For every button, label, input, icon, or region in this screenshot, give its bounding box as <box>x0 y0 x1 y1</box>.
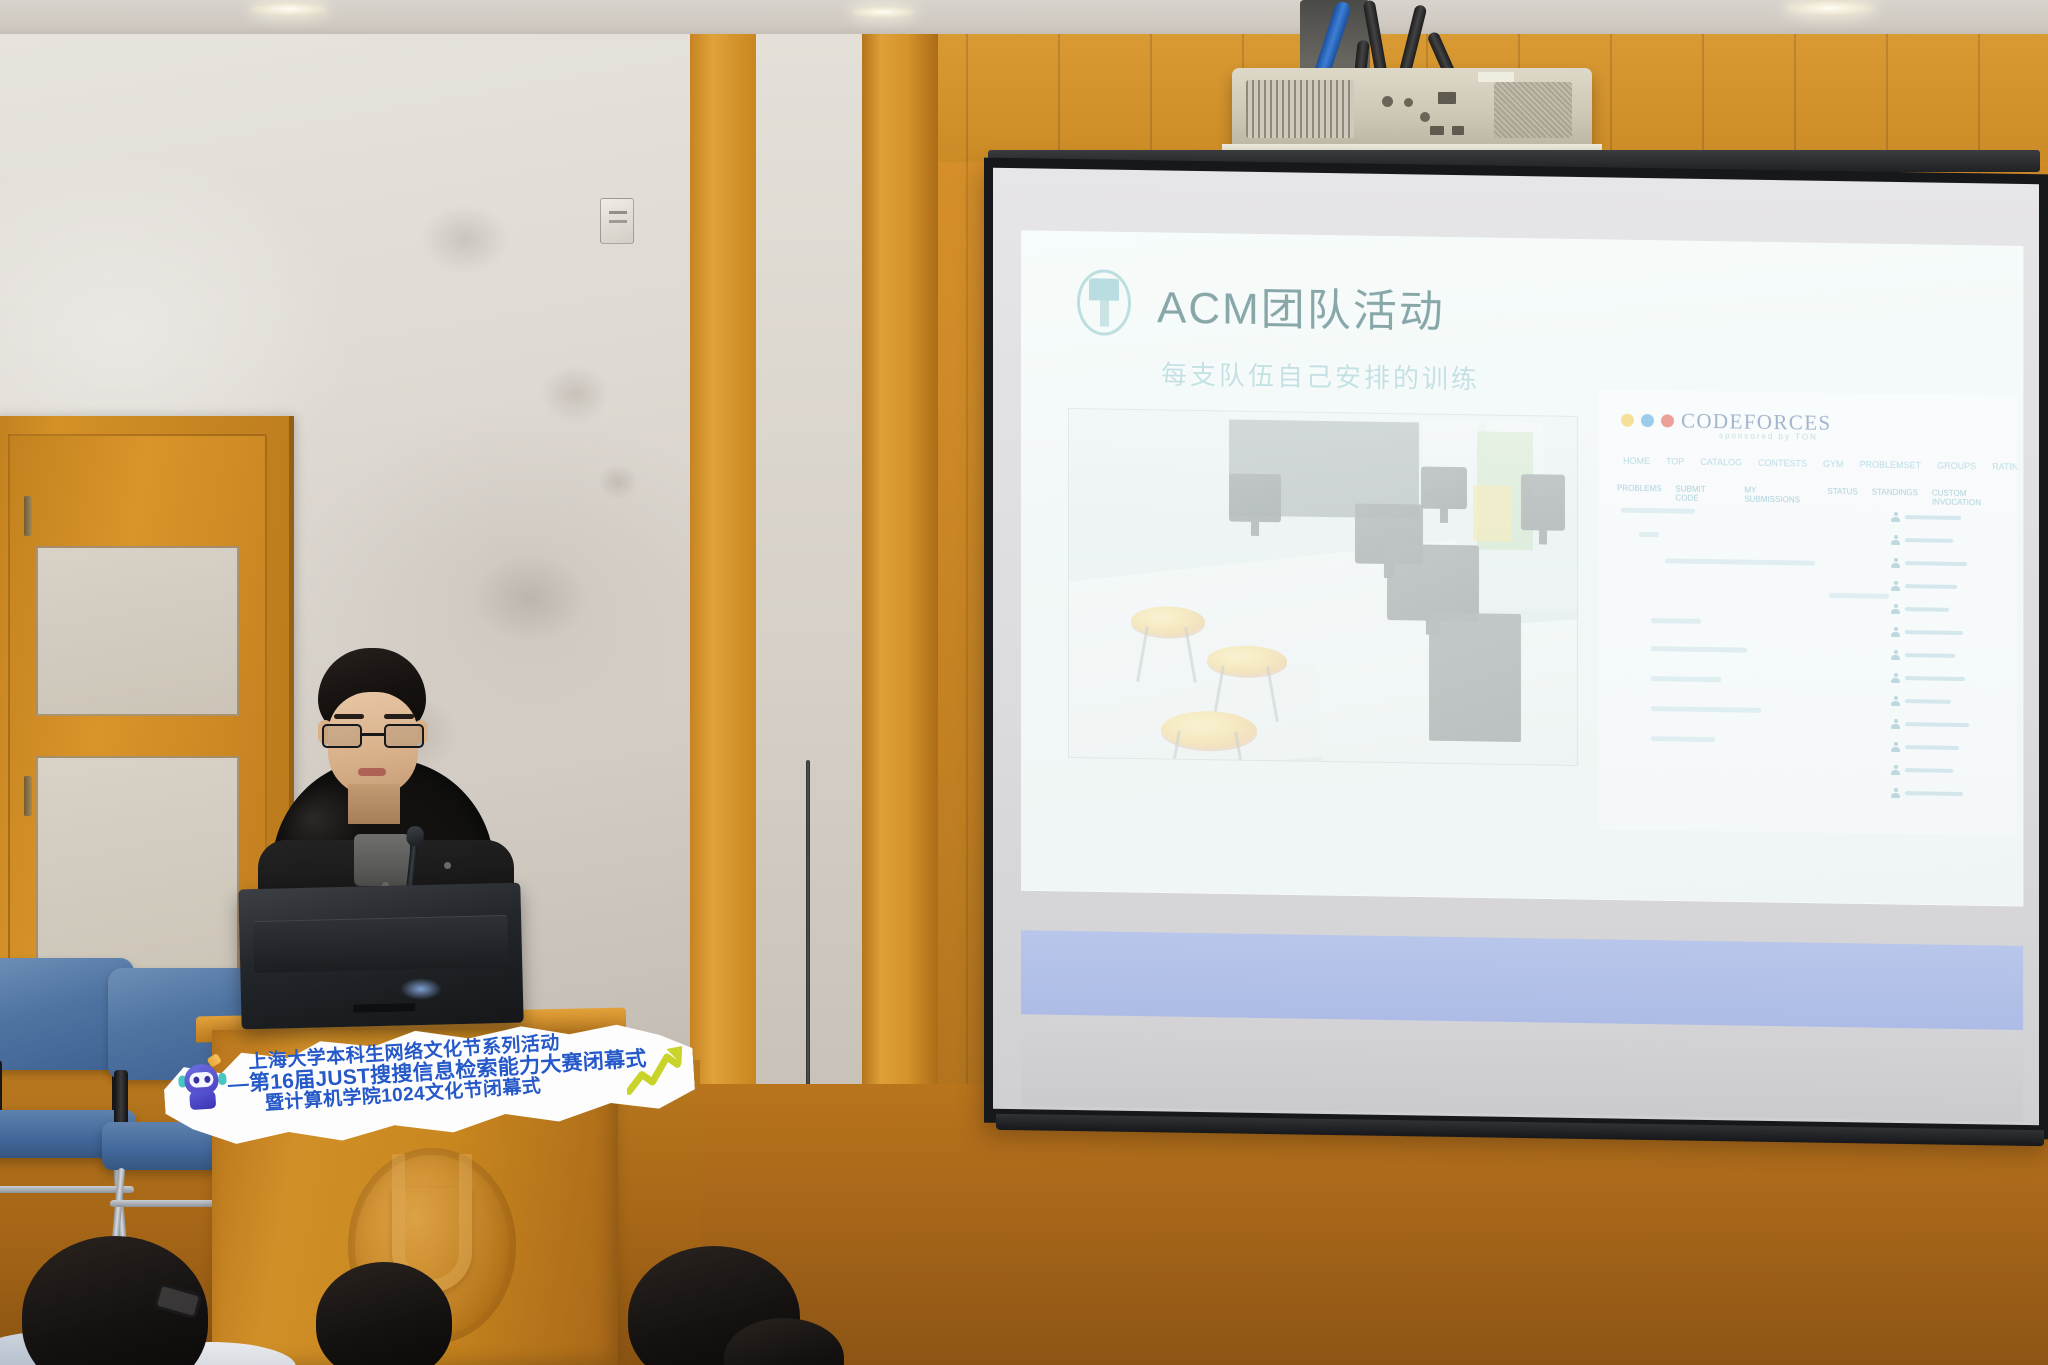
codeforces-dot-red-icon <box>1661 414 1674 427</box>
growth-arrow-icon <box>624 1042 693 1098</box>
cf-user-row[interactable] <box>1891 765 2011 777</box>
codeforces-top-rated-sidebar <box>1891 512 2011 813</box>
person-icon <box>1891 535 1900 545</box>
cf-content-line <box>1639 532 1659 537</box>
wood-pillar-right <box>862 34 938 1174</box>
slide-title: ACM团队活动 <box>1157 271 1445 340</box>
projector-port <box>1382 96 1393 107</box>
person-icon <box>1891 742 1900 752</box>
cf-subnav-item[interactable]: STATUS <box>1827 487 1857 505</box>
person-icon <box>1891 581 1900 591</box>
cf-user-row[interactable] <box>1891 696 2011 708</box>
codeforces-tagline: sponsored by TON <box>1719 431 1818 442</box>
presenter-eyebrow <box>334 714 364 719</box>
door-hinge <box>24 496 32 536</box>
projector-port <box>1404 98 1413 107</box>
monitor-glint <box>400 978 442 1000</box>
cf-nav-item[interactable]: HOME <box>1623 456 1650 466</box>
cf-user-row[interactable] <box>1891 535 2011 547</box>
chair-rail <box>0 1186 134 1193</box>
codeforces-screenshot: CODEFORCES sponsored by TON HOME TOP CAT… <box>1599 389 2017 836</box>
mascot-body <box>189 1089 216 1110</box>
slide-lower-band <box>1021 1014 2023 1122</box>
person-icon <box>1891 512 1900 522</box>
presenter-eyebrow <box>384 714 414 719</box>
projection-screen-icon: ACM团队活动 每支队伍自己安排的训练 <box>984 158 2048 1140</box>
wall-socket-icon <box>600 198 634 244</box>
cf-content-line <box>1829 593 1889 599</box>
presenter-mouth <box>358 768 386 776</box>
ceiling-light <box>252 2 326 16</box>
cf-nav-item[interactable]: GROUPS <box>1937 461 1976 472</box>
ceiling-projector-icon <box>1232 68 1592 154</box>
person-icon <box>1891 765 1900 775</box>
projector-connector <box>1452 126 1464 135</box>
cf-user-row[interactable] <box>1891 558 2011 570</box>
cf-nav-item[interactable]: CONTESTS <box>1758 458 1807 469</box>
cf-content-line <box>1621 508 1695 514</box>
cf-subnav-item[interactable]: SUBMIT CODE <box>1675 485 1730 504</box>
plaster-strip <box>756 34 864 1174</box>
glasses-lens <box>384 724 424 748</box>
cf-subnav-item[interactable]: CUSTOM INVOCATION <box>1932 489 2017 508</box>
projector-vent <box>1246 80 1354 138</box>
slide-subtitle: 每支队伍自己安排的训练 <box>1161 354 1480 396</box>
door-leaf[interactable] <box>8 434 267 976</box>
person-icon <box>1891 650 1900 660</box>
cf-content-line <box>1651 676 1721 682</box>
ceiling-light <box>1786 0 1874 16</box>
glasses-lens <box>322 724 362 748</box>
projector-label <box>1478 72 1514 82</box>
shanghai-university-u-logo-icon <box>1077 269 1131 336</box>
cf-user-row[interactable] <box>1891 719 2011 731</box>
cf-subnav-item[interactable]: PROBLEMS <box>1617 484 1661 503</box>
slide: ACM团队活动 每支队伍自己安排的训练 <box>1021 230 2023 906</box>
cf-nav-item[interactable]: RATING <box>1992 461 2017 472</box>
cf-content-line <box>1651 646 1747 653</box>
projector-speaker-grill <box>1494 82 1572 138</box>
person-icon <box>1891 558 1900 568</box>
lab-photo <box>1069 409 1577 765</box>
monitor-buttons[interactable] <box>353 1003 415 1013</box>
cf-user-row[interactable] <box>1891 742 2011 754</box>
person-icon <box>1891 673 1900 683</box>
presenter-neck <box>348 784 400 824</box>
cf-nav-item[interactable]: GYM <box>1823 459 1844 469</box>
wood-pillar-left <box>690 34 756 1174</box>
person-icon <box>1891 604 1900 614</box>
auditorium-scene: ACM团队活动 每支队伍自己安排的训练 <box>0 0 2048 1365</box>
ceiling-light <box>852 6 914 18</box>
glasses-bridge <box>362 733 384 736</box>
codeforces-dot-yellow-icon <box>1621 414 1634 427</box>
screen-surface: ACM团队活动 每支队伍自己安排的训练 <box>993 168 2039 1125</box>
cf-content-line <box>1651 706 1761 713</box>
door-hinge <box>24 776 32 816</box>
codeforces-nav[interactable]: HOME TOP CATALOG CONTESTS GYM PROBLEMSET… <box>1623 456 2007 472</box>
person-icon <box>1891 627 1900 637</box>
eyeglasses-icon <box>322 724 426 750</box>
cf-subnav-item[interactable]: MY SUBMISSIONS <box>1744 486 1813 505</box>
door-panel-upper <box>36 546 239 716</box>
projector-port <box>1420 112 1430 122</box>
cf-user-row[interactable] <box>1891 650 2011 662</box>
cf-content-line <box>1665 558 1815 565</box>
cf-content-line <box>1651 736 1715 742</box>
cf-nav-item[interactable]: PROBLEMSET <box>1860 459 1922 470</box>
presenter-inner-shirt <box>354 834 410 886</box>
cf-user-row[interactable] <box>1891 581 2011 593</box>
cf-nav-item[interactable]: CATALOG <box>1700 457 1742 468</box>
jacket-snap <box>444 862 451 869</box>
codeforces-subnav[interactable]: PROBLEMS SUBMIT CODE MY SUBMISSIONS STAT… <box>1617 484 2017 508</box>
projector-connector <box>1438 92 1456 104</box>
wall-cable <box>806 760 810 1090</box>
cf-user-row[interactable] <box>1891 512 2011 524</box>
codeforces-dot-blue-icon <box>1641 414 1654 427</box>
monitor-bezel <box>253 915 508 973</box>
cf-content-line <box>1651 618 1701 624</box>
cf-subnav-item[interactable]: STANDINGS <box>1872 488 1918 507</box>
cf-user-row[interactable] <box>1891 604 2011 616</box>
cf-nav-item[interactable]: TOP <box>1666 456 1684 466</box>
door-panel-lower <box>36 756 239 986</box>
person-icon <box>1891 719 1900 729</box>
person-icon <box>1891 696 1900 706</box>
cf-user-row[interactable] <box>1891 627 2011 639</box>
cf-user-row[interactable] <box>1891 673 2011 685</box>
photo-wash <box>1069 409 1577 765</box>
person-icon <box>1891 788 1900 798</box>
presenter-monitor-icon <box>238 883 523 1030</box>
slide-header: ACM团队活动 <box>1077 269 1445 341</box>
cf-user-row[interactable] <box>1891 788 2011 800</box>
projector-connector <box>1430 126 1444 135</box>
